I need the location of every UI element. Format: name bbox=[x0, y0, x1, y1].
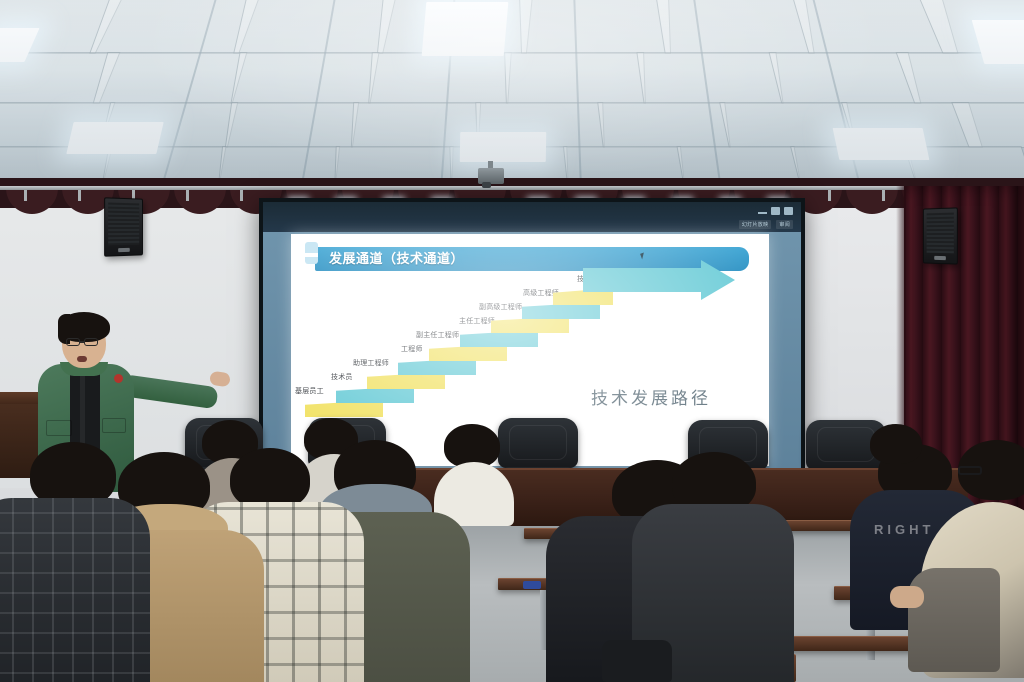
presenter-pocket bbox=[46, 420, 72, 436]
glasses-bridge bbox=[80, 341, 85, 343]
jacket-print: RIGHT bbox=[874, 522, 934, 537]
company-badge-icon bbox=[114, 374, 123, 383]
ceiling-light-panel bbox=[833, 128, 930, 160]
ladder-step-label: 助理工程师 bbox=[353, 358, 389, 368]
ribbon-tabs[interactable]: 幻灯片放映 审阅 bbox=[739, 220, 793, 229]
chart-caption: 技术发展路径 bbox=[591, 384, 711, 409]
wall-speaker-right bbox=[923, 207, 958, 264]
projector-lens-icon bbox=[482, 182, 491, 188]
ladder-step-label: 副主任工程师 bbox=[416, 330, 459, 340]
ceiling-light-panel bbox=[66, 122, 163, 154]
phone-on-desk bbox=[523, 581, 541, 589]
curtain-rail bbox=[0, 186, 1024, 190]
window-controls[interactable] bbox=[758, 207, 793, 215]
slide-title-tab-notch bbox=[305, 253, 318, 257]
minimize-icon[interactable] bbox=[758, 212, 767, 214]
ladder-step-label: 工程师 bbox=[401, 344, 423, 354]
ladder-step-label: 主任工程师 bbox=[459, 316, 495, 326]
bag-on-floor bbox=[602, 640, 672, 682]
ribbon-tab-slideshow[interactable]: 幻灯片放映 bbox=[739, 220, 772, 229]
ceiling-light-panel bbox=[460, 132, 547, 162]
wall-speaker-left bbox=[104, 197, 143, 256]
ladder-step-label: 副高级工程师 bbox=[479, 302, 522, 312]
glasses-icon bbox=[84, 338, 98, 346]
ladder-step-label: 基层员工 bbox=[295, 386, 324, 396]
ladder-step-label: 技术员 bbox=[331, 372, 353, 382]
ribbon-tab-review[interactable]: 审阅 bbox=[776, 220, 793, 229]
close-icon[interactable] bbox=[784, 207, 793, 215]
ceiling bbox=[0, 0, 1024, 196]
attendee-garment bbox=[0, 498, 150, 682]
glasses-icon bbox=[66, 338, 80, 346]
attendee bbox=[866, 424, 926, 484]
growth-arrow-icon bbox=[583, 260, 735, 300]
presenter-mouth bbox=[77, 356, 87, 362]
attendee-dark-plaid bbox=[0, 442, 142, 682]
attendee-beige-glasses bbox=[936, 440, 1024, 682]
attendee-hand bbox=[890, 586, 924, 608]
screenshot-root: 幻灯片放映 审阅 发展通道（技术通道） 基层员工技术员助理工程师工程师副主任工程… bbox=[0, 0, 1024, 682]
ceiling-light-panel bbox=[422, 2, 509, 56]
glasses-icon bbox=[958, 466, 982, 475]
slide-title: 发展通道（技术通道） bbox=[329, 247, 464, 271]
attendee-arm bbox=[908, 568, 1000, 672]
maximize-icon[interactable] bbox=[771, 207, 780, 215]
presenter-pocket bbox=[102, 418, 126, 433]
